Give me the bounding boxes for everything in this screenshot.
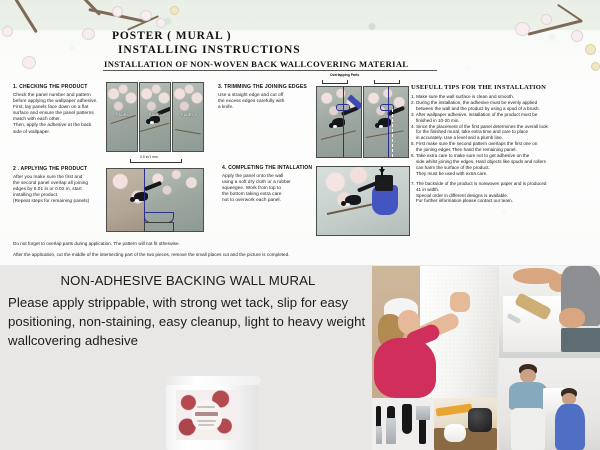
poster-title-block: POSTER ( MURAL ) INSTALLING INSTRUCTIONS — [112, 29, 301, 57]
promo-line: wallcovering adhesive — [8, 331, 368, 350]
paste-bucket-photo — [158, 372, 266, 450]
useful-tips-block: USEFULL TIPS FOR THE INSTALLATION 1. Mak… — [411, 84, 597, 204]
mural-panel-2: PANEL 2 — [139, 82, 171, 152]
man-head — [520, 369, 536, 383]
promo-line: positioning, non-staining, easy cleanup,… — [8, 312, 368, 331]
step-2-block: 2 . APPLYING THE PRODUCT After you make … — [13, 166, 105, 204]
mural-panel-1: PANEL 1 — [106, 82, 138, 152]
title-divider — [103, 70, 437, 71]
woman-shirt — [374, 338, 436, 398]
title-line-1: POSTER ( MURAL ) — [112, 29, 301, 43]
mural-trim-left — [316, 86, 362, 158]
tool-blade-knife — [376, 426, 382, 444]
tool-handle-scraper — [419, 418, 426, 444]
man-shirt — [509, 382, 547, 410]
promo-text-block: NON-ADHESIVE BACKING WALL MURAL Please a… — [8, 269, 368, 350]
bucket-label — [176, 390, 238, 440]
tip-final-item: For further information please contact o… — [411, 198, 597, 204]
panel-3-label: PANEL 3 — [181, 113, 197, 117]
tips-heading: USEFULL TIPS FOR THE INSTALLATION — [411, 84, 597, 91]
step-1-panel-diagram: PANEL 1 PANEL 2 PANEL 3 — [106, 82, 206, 154]
step-2-heading: 2 . APPLYING THE PRODUCT — [13, 166, 105, 172]
step-1-heading: 1. CHECKING THE PRODUCT — [13, 84, 105, 90]
bird-illustration-trim-right — [375, 109, 405, 137]
step-2-overlap-diagram — [106, 168, 206, 234]
bucket-label-card — [192, 400, 222, 430]
man-pants — [511, 408, 545, 450]
bench-yellow-strip — [436, 404, 473, 417]
photo-workbench-with-paste-bucket — [434, 398, 497, 450]
poster-subtitle: INSTALLATION OF NON-WOVEN BACK WALLCOVER… — [104, 59, 408, 69]
panel-width-label: 0.5 in/1 mm — [140, 155, 158, 159]
mural-panel-3: PANEL 3 — [172, 82, 204, 152]
bucket-rim — [163, 376, 261, 385]
black-bucket — [468, 408, 492, 432]
overlapping-parts-label: Overlapping Parts — [330, 73, 359, 77]
step-4-body: Apply the panel onto the wall using a so… — [222, 173, 318, 203]
tool-tray — [561, 328, 600, 352]
step-3-block: 3. TRIMMING THE JOINING EDGES Use a stra… — [218, 84, 314, 110]
bench-wallpaper-roll — [444, 424, 466, 442]
mural-trim-right — [363, 86, 409, 158]
title-line-2: INSTALLING INSTRUCTIONS — [112, 43, 301, 57]
promo-line: Please apply strippable, with strong wet… — [8, 293, 368, 312]
photo-man-and-boy-hanging-mural — [499, 358, 600, 450]
tool-handle-knife — [376, 406, 381, 428]
worker-second-hand — [559, 308, 585, 328]
bird-illustration-squeegee — [341, 185, 375, 215]
note-line-2: After the application, cut the middle of… — [13, 252, 290, 257]
step-4-block: 4. COMPLETING THE INTALLATION Apply the … — [222, 165, 318, 203]
overlap-hatch-area — [144, 222, 174, 232]
photo-woman-applying-wallpaper — [372, 266, 497, 398]
tip-item: They must be used with extra care. — [411, 171, 597, 177]
arrow-shaft — [381, 167, 383, 177]
instruction-sheet-background: POSTER ( MURAL ) INSTALLING INSTRUCTIONS… — [0, 0, 600, 265]
panel-1-label: PANEL 1 — [116, 113, 132, 117]
bird-illustration-overlap — [130, 184, 160, 212]
woman-hand — [450, 292, 470, 312]
squeegee-tool — [375, 175, 393, 191]
step-4-squeegee-diagram — [316, 166, 410, 236]
boy-shirt — [555, 404, 585, 450]
note-line-1: Do not forget to overlap parts during ap… — [13, 241, 180, 246]
photo-wallpaper-tool-set — [372, 398, 434, 450]
poster-instruction-sheet: POSTER ( MURAL ) INSTALLING INSTRUCTIONS… — [0, 0, 600, 450]
step-4-heading: 4. COMPLETING THE INTALLATION — [222, 165, 318, 171]
step-1-body: Check the panel number and pattern befor… — [13, 92, 105, 135]
bird-illustration — [146, 107, 170, 131]
tool-blade-scraper — [416, 406, 430, 420]
bird-illustration-trim-left — [329, 109, 359, 137]
step-2-body: After you make sure the first and the se… — [13, 174, 105, 204]
blossom-sprig-right — [505, 0, 600, 70]
promo-title: NON-ADHESIVE BACKING WALL MURAL — [8, 273, 368, 288]
photo-hands-rolling-wallpaper — [499, 266, 600, 360]
tool-brush-bristles — [386, 418, 396, 444]
tool-squeegee — [402, 404, 412, 434]
step-3-heading: 3. TRIMMING THE JOINING EDGES — [218, 84, 314, 90]
panel-width-dimension: 0.5 in/1 mm — [128, 156, 184, 168]
step-3-trim-diagram — [316, 86, 408, 158]
blossom-sprig-lower-left — [0, 8, 70, 78]
step-1-block: 1. CHECKING THE PRODUCT Check the panel … — [13, 84, 105, 135]
step-3-body: Use a straight edge and cut off the exce… — [218, 92, 314, 110]
panel-2-label: PANEL 2 — [149, 113, 165, 117]
